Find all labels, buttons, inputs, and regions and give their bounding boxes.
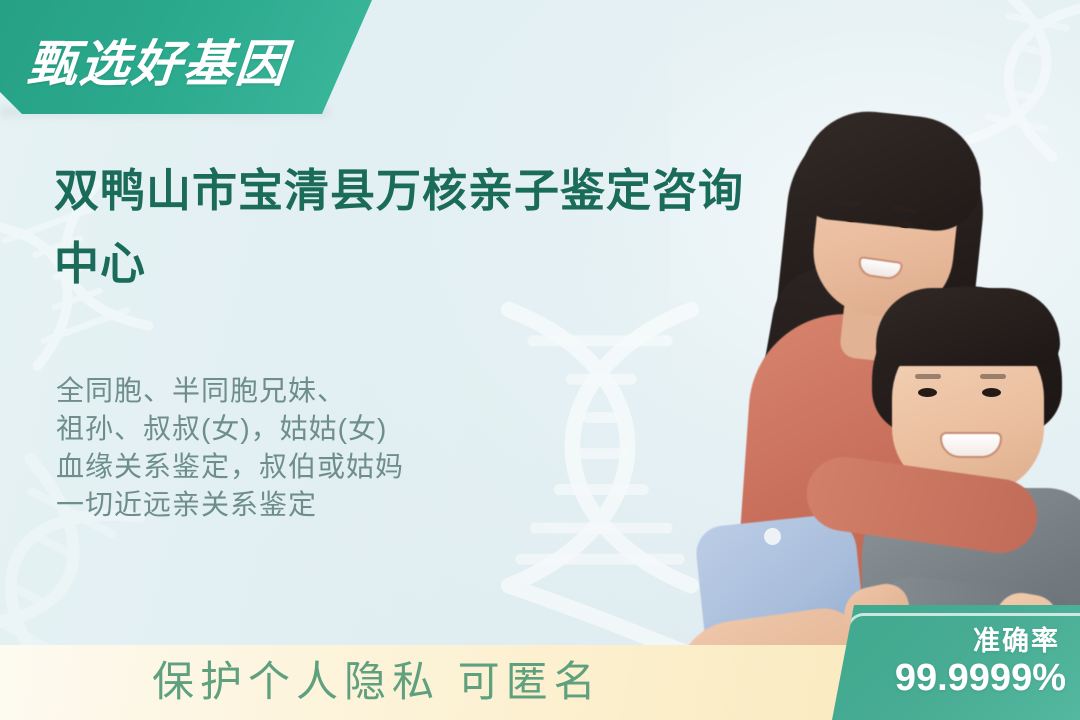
page-title-line-2: 中心: [54, 227, 864, 300]
boy-eye-right: [982, 388, 1001, 397]
service-description-line-2: 祖孙、叔叔(女)，姑姑(女): [56, 410, 616, 448]
accuracy-badge-label: 准确率: [973, 619, 1060, 658]
service-description-line-1: 全同胞、半同胞兄妹、: [56, 372, 616, 410]
privacy-bar-text: 保护个人隐私 可匿名: [152, 654, 602, 710]
logo-text: 甄选好基因: [25, 24, 291, 96]
boy-eye-left: [918, 388, 937, 397]
service-description-line-4: 一切近远亲关系鉴定: [56, 486, 616, 524]
accuracy-badge-value: 99.9999%: [895, 657, 1066, 700]
poster-canvas: 甄选好基因 双鸭山市宝清县万核亲子鉴定咨询 中心 全同胞、半同胞兄妹、 祖孙、叔…: [0, 0, 1080, 720]
accuracy-badge: 准确率 99.9999%: [818, 605, 1080, 720]
logo-ribbon[interactable]: 甄选好基因: [0, 0, 372, 114]
service-description: 全同胞、半同胞兄妹、 祖孙、叔叔(女)，姑姑(女) 血缘关系鉴定，叔伯或姑妈 一…: [56, 372, 616, 524]
page-title-line-1: 双鸭山市宝清县万核亲子鉴定咨询: [54, 154, 864, 227]
shorts-button: [764, 528, 781, 545]
service-description-line-3: 血缘关系鉴定，叔伯或姑妈: [56, 448, 616, 486]
boy-bangs: [876, 288, 1060, 366]
boy-eyebrow-left: [915, 374, 941, 379]
boy-eyebrow-right: [980, 374, 1006, 379]
boy-smile: [940, 432, 1002, 458]
page-title: 双鸭山市宝清县万核亲子鉴定咨询 中心: [54, 154, 864, 300]
